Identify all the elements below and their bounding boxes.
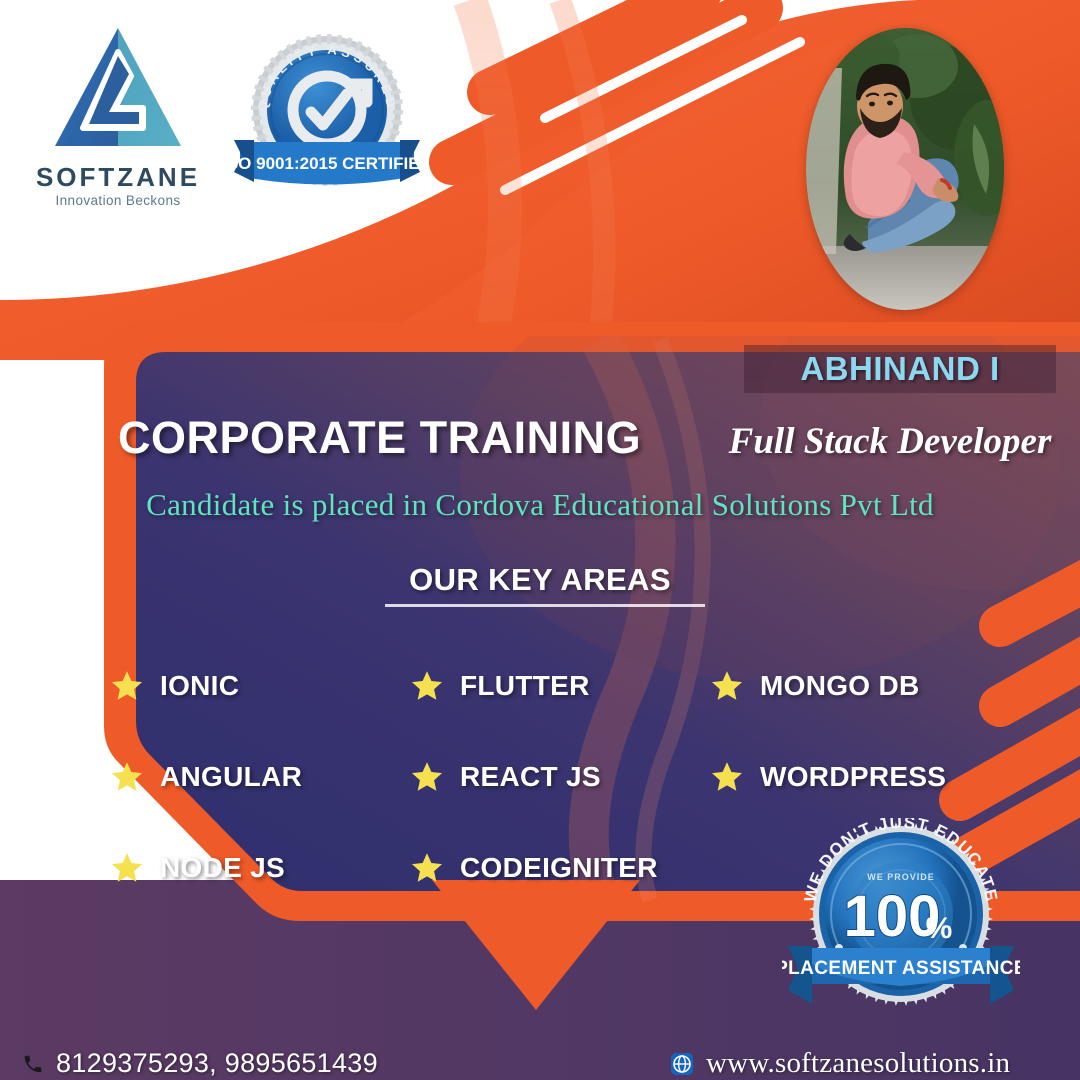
list-item: REACT JS (410, 731, 710, 822)
iso-ribbon-text: ISO 9001:2015 CERTIFIED (232, 154, 422, 173)
avatar (806, 28, 1004, 310)
triangle-z-logo-icon (43, 22, 193, 162)
star-icon (110, 760, 144, 794)
list-item-label: WORDPRESS (760, 761, 946, 793)
list-item-label: IONIC (160, 670, 239, 702)
seal-ribbon-text: PLACEMENT ASSISTANCE (782, 958, 1020, 979)
list-item: MONGO DB (710, 640, 990, 731)
seal-small-text: WE PROVIDE (867, 872, 935, 882)
placement-statement: Candidate is placed in Cordova Education… (0, 487, 1080, 523)
phone-number: 8129375293, 9895651439 (56, 1048, 378, 1079)
list-item: CODEIGNITER (410, 822, 710, 913)
globe-icon (670, 1052, 694, 1076)
list-item: WORDPRESS (710, 731, 990, 822)
seal-percent: % (926, 912, 953, 945)
key-areas-heading: OUR KEY AREAS (0, 562, 1080, 598)
list-item-label: CODEIGNITER (460, 852, 658, 884)
star-icon (410, 851, 444, 885)
list-item: IONIC (110, 640, 410, 731)
candidate-nameplate: ABHINAND I (744, 345, 1056, 393)
candidate-photo (806, 28, 1004, 310)
placement-assistance-seal-icon: WE DON'T JUST EDUCATE WE PROVIDE 100 % P… (782, 818, 1020, 1023)
candidate-role: Full Stack Developer (700, 420, 1080, 463)
star-icon (710, 760, 744, 794)
key-areas-divider (385, 604, 705, 607)
contact-website[interactable]: www.softzanesolutions.in (670, 1047, 1010, 1080)
logo-tagline: Innovation Beckons (28, 194, 208, 208)
list-item: NODE JS (110, 822, 410, 913)
star-icon (110, 669, 144, 703)
logo-wordmark: SOFTZANE (28, 164, 208, 190)
list-item: ANGULAR (110, 731, 410, 822)
list-item-label: FLUTTER (460, 670, 590, 702)
star-icon (710, 669, 744, 703)
star-icon (410, 760, 444, 794)
list-item-label: NODE JS (160, 852, 285, 884)
phone-icon (22, 1053, 44, 1075)
star-icon (110, 851, 144, 885)
list-item-label: REACT JS (460, 761, 601, 793)
page-title: CORPORATE TRAINING (118, 412, 641, 464)
list-item-label: ANGULAR (160, 761, 302, 793)
contact-phone[interactable]: 8129375293, 9895651439 (22, 1048, 378, 1079)
poster-root: SOFTZANE Innovation Beckons (0, 0, 1080, 1080)
iso-check-seal-icon: QUALITY ASSURED ISO 9001:2015 CERTIFIED (232, 22, 422, 197)
star-icon (410, 669, 444, 703)
candidate-name: ABHINAND I (800, 350, 999, 388)
website-url: www.softzanesolutions.in (706, 1047, 1010, 1080)
list-item-label: MONGO DB (760, 670, 920, 702)
list-item: FLUTTER (410, 640, 710, 731)
brand-logo: SOFTZANE Innovation Beckons (28, 22, 208, 212)
